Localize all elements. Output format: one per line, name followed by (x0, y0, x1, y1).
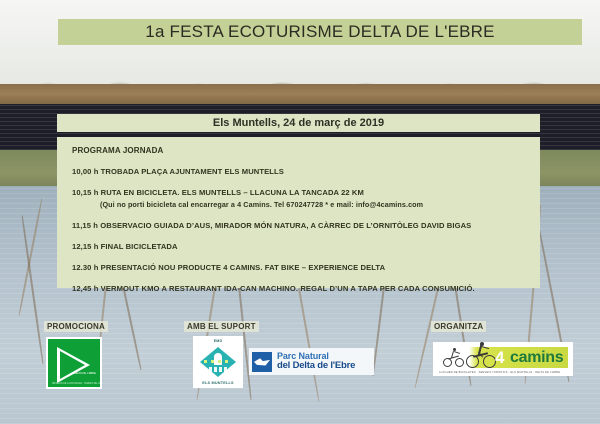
sponsor-label-promociona: PROMOCIONA (44, 321, 108, 332)
crest-dots-icon (204, 360, 232, 363)
delta-ebre-biosphere-logo: DELTA DE L'EBRE RESERVA DE LA BIOSFERA -… (46, 337, 102, 389)
program-line: 11,15 h OBSERVACIO GUIADA D’AUS, MIRADOR… (72, 221, 540, 230)
background-reeds (0, 84, 600, 106)
program-panel: PROGRAMA JORNADA 10,00 h TROBADA PLAÇA A… (57, 137, 540, 288)
4-camins-logo: 4 camins LLOGUER DE BICICLETES · SERVEIS… (433, 342, 573, 376)
program-line: 10,15 h RUTA EN BICICLETA. ELS MUNTELLS … (72, 188, 540, 197)
emd-els-muntells-crest: EMD ELS MUNTELLS (193, 336, 243, 388)
program-heading: PROGRAMA JORNADA (72, 146, 540, 155)
bicycle-wheel-icon (455, 358, 464, 367)
parc-natural-delta-ebre-logo: Parc Natural del Delta de l'Ebre (249, 348, 374, 375)
poster-subtitle-banner: Els Muntells, 24 de març de 2019 (57, 114, 540, 132)
event-location-date: Els Muntells, 24 de març de 2019 (213, 117, 384, 129)
logo-word-camins: camins (510, 347, 563, 368)
bird-wave-icon (252, 352, 272, 372)
program-line: 12,15 h FINAL BICICLETADA (72, 242, 540, 251)
emd-crest-top-text: EMD (193, 339, 243, 343)
program-line: 12.30 h PRESENTACIÓ NOU PRODUCTE 4 CAMIN… (72, 263, 540, 272)
emd-crest-bottom-text: ELS MUNTELLS (193, 381, 243, 385)
program-line: 12,45 h VERMOUT KMO A RESTAURANT IDA-CAN… (72, 284, 540, 293)
page-title: 1a FESTA ECOTURISME DELTA DE L'EBRE (145, 22, 494, 42)
program-line-note: (Qui no porti bicicleta cal encarregar a… (72, 200, 540, 209)
logo-tagline: LLOGUER DE BICICLETES · SERVEIS TURISTIC… (439, 371, 560, 374)
water-waves-icon (209, 367, 227, 372)
logo-number-4: 4 (495, 347, 504, 368)
event-poster: 1a FESTA ECOTURISME DELTA DE L'EBRE Els … (0, 0, 600, 424)
poster-title-banner: 1a FESTA ECOTURISME DELTA DE L'EBRE (58, 19, 582, 45)
parc-natural-line2: del Delta de l'Ebre (277, 361, 355, 371)
logo-mini-text: DELTA DE L'EBRE (74, 372, 96, 376)
program-line: 10,00 h TROBADA PLAÇA AJUNTAMENT ELS MUN… (72, 167, 540, 176)
sponsor-label-support: AMB EL SUPORT (184, 321, 259, 332)
church-icon (214, 353, 222, 365)
sponsor-label-organiza: ORGANITZA (431, 321, 486, 332)
logo-foot-text: RESERVA DE LA BIOSFERA - TERRES DE L'EBR… (52, 383, 102, 385)
